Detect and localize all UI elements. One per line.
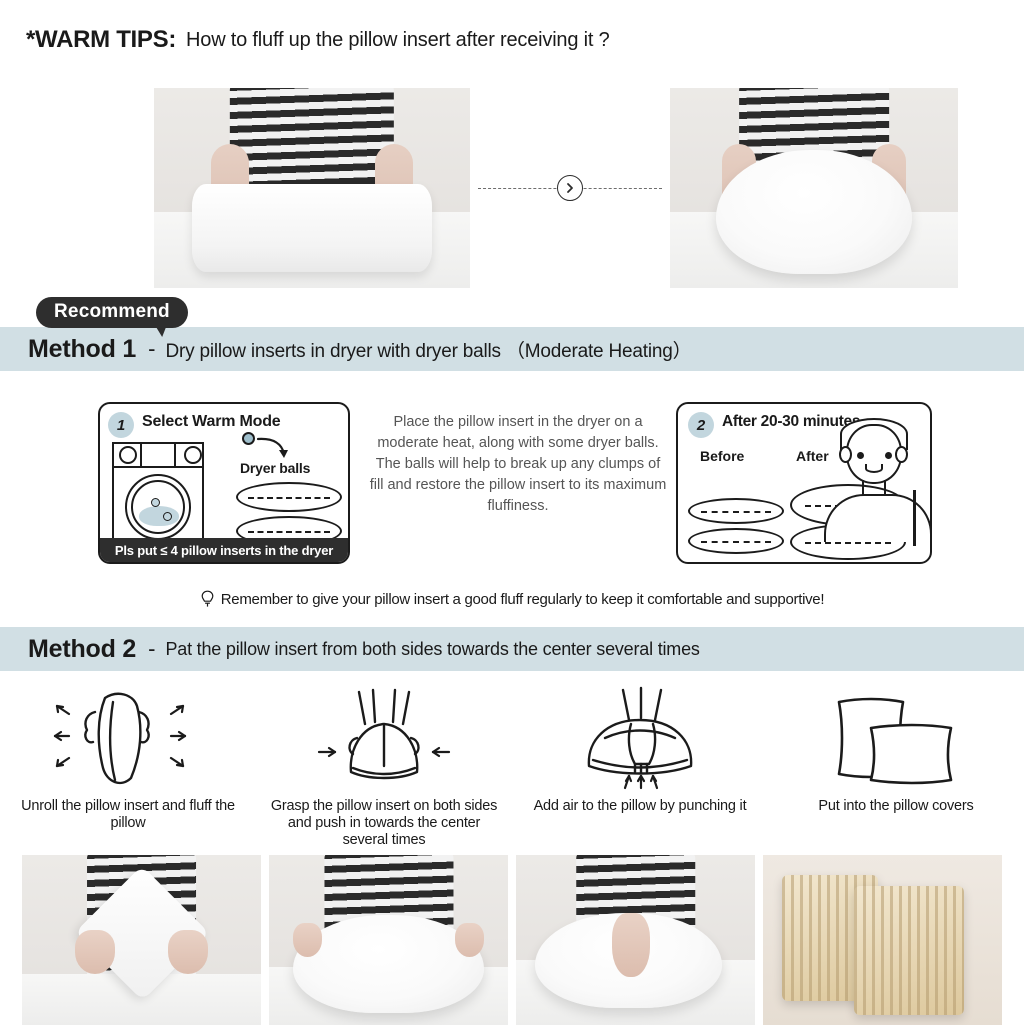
dryer-machine-icon xyxy=(112,442,204,547)
photo-pushing-pillow xyxy=(269,855,508,1025)
lightbulb-icon xyxy=(200,590,215,608)
photo-punching-pillow xyxy=(516,855,755,1025)
dryer-balls-label: Dryer balls xyxy=(240,460,310,476)
illustration-cell xyxy=(768,680,1024,800)
step2-card: 2 After 20-30 minutes Before After xyxy=(676,402,932,564)
pillow-punch-up-icon xyxy=(545,684,735,796)
photo-finished-pillow-covers xyxy=(763,855,1002,1025)
warm-tips-label: *WARM TIPS: xyxy=(26,26,176,54)
page-header: *WARM TIPS: How to fluff up the pillow i… xyxy=(26,20,1004,60)
method1-paragraph: Place the pillow insert in the dryer on … xyxy=(368,412,668,517)
step1-number-badge: 1 xyxy=(108,412,134,438)
step1-card: 1 Select Warm Mode Dryer balls xyxy=(98,402,350,564)
dryer-footer-note: Pls put ≤ 4 pillow inserts in the dryer xyxy=(100,538,348,562)
person-icon xyxy=(832,422,924,532)
method1-subtitle: Dry pillow inserts in dryer with dryer b… xyxy=(165,336,691,363)
page-title: How to fluff up the pillow insert after … xyxy=(186,29,610,52)
method1-dash: - xyxy=(148,336,155,362)
photo-unrolling-pillow xyxy=(22,855,261,1025)
pillow-outline-before xyxy=(688,528,784,554)
illustration-cell xyxy=(0,680,256,800)
illustration-cell xyxy=(512,680,768,800)
method1-body: 1 Select Warm Mode Dryer balls xyxy=(0,380,1024,620)
illustration-cell xyxy=(256,680,512,800)
method1-title: Method 1 xyxy=(28,335,136,364)
method2-subtitle: Pat the pillow insert from both sides to… xyxy=(165,639,699,660)
step2-number-badge: 2 xyxy=(688,412,714,438)
recommend-badge: Recommend xyxy=(36,297,188,328)
method2-caption-row: Unroll the pillow insert and fluff the p… xyxy=(0,798,1024,850)
step-caption: Unroll the pillow insert and fluff the p… xyxy=(0,798,256,850)
after-label: After xyxy=(796,448,829,464)
before-label: Before xyxy=(700,448,744,464)
photo-fluffed-pillow xyxy=(670,88,958,288)
method2-illustration-row xyxy=(0,680,1024,800)
method2-photo-row xyxy=(0,855,1024,1025)
method2-title: Method 2 xyxy=(28,635,136,664)
arrow-icon xyxy=(256,436,290,462)
step-caption: Grasp the pillow insert on both sides an… xyxy=(256,798,512,850)
pillow-outline-before xyxy=(688,498,784,524)
reminder-text: Remember to give your pillow insert a go… xyxy=(221,591,824,608)
recommend-label: Recommend xyxy=(54,301,170,322)
dryer-ball-icon xyxy=(242,432,255,445)
reminder-row: Remember to give your pillow insert a go… xyxy=(0,586,1024,612)
step-caption: Add air to the pillow by punching it xyxy=(512,798,768,850)
top-photo-row xyxy=(0,86,1024,290)
photo-connector xyxy=(470,88,670,288)
method2-dash: - xyxy=(148,636,155,662)
pillow-push-inward-icon xyxy=(289,684,479,796)
badge-tail xyxy=(153,325,167,337)
pillow-unroll-arrows-icon xyxy=(33,684,223,796)
two-pillow-covers-icon xyxy=(801,684,991,796)
wall-divider xyxy=(913,490,916,546)
step-caption: Put into the pillow covers xyxy=(768,798,1024,850)
photo-flat-pillow xyxy=(154,88,470,288)
pillow-outline xyxy=(236,482,342,512)
chevron-right-circle-icon xyxy=(557,175,583,201)
step1-title: Select Warm Mode xyxy=(142,413,280,431)
method2-banner: Method 2 - Pat the pillow insert from bo… xyxy=(0,627,1024,671)
